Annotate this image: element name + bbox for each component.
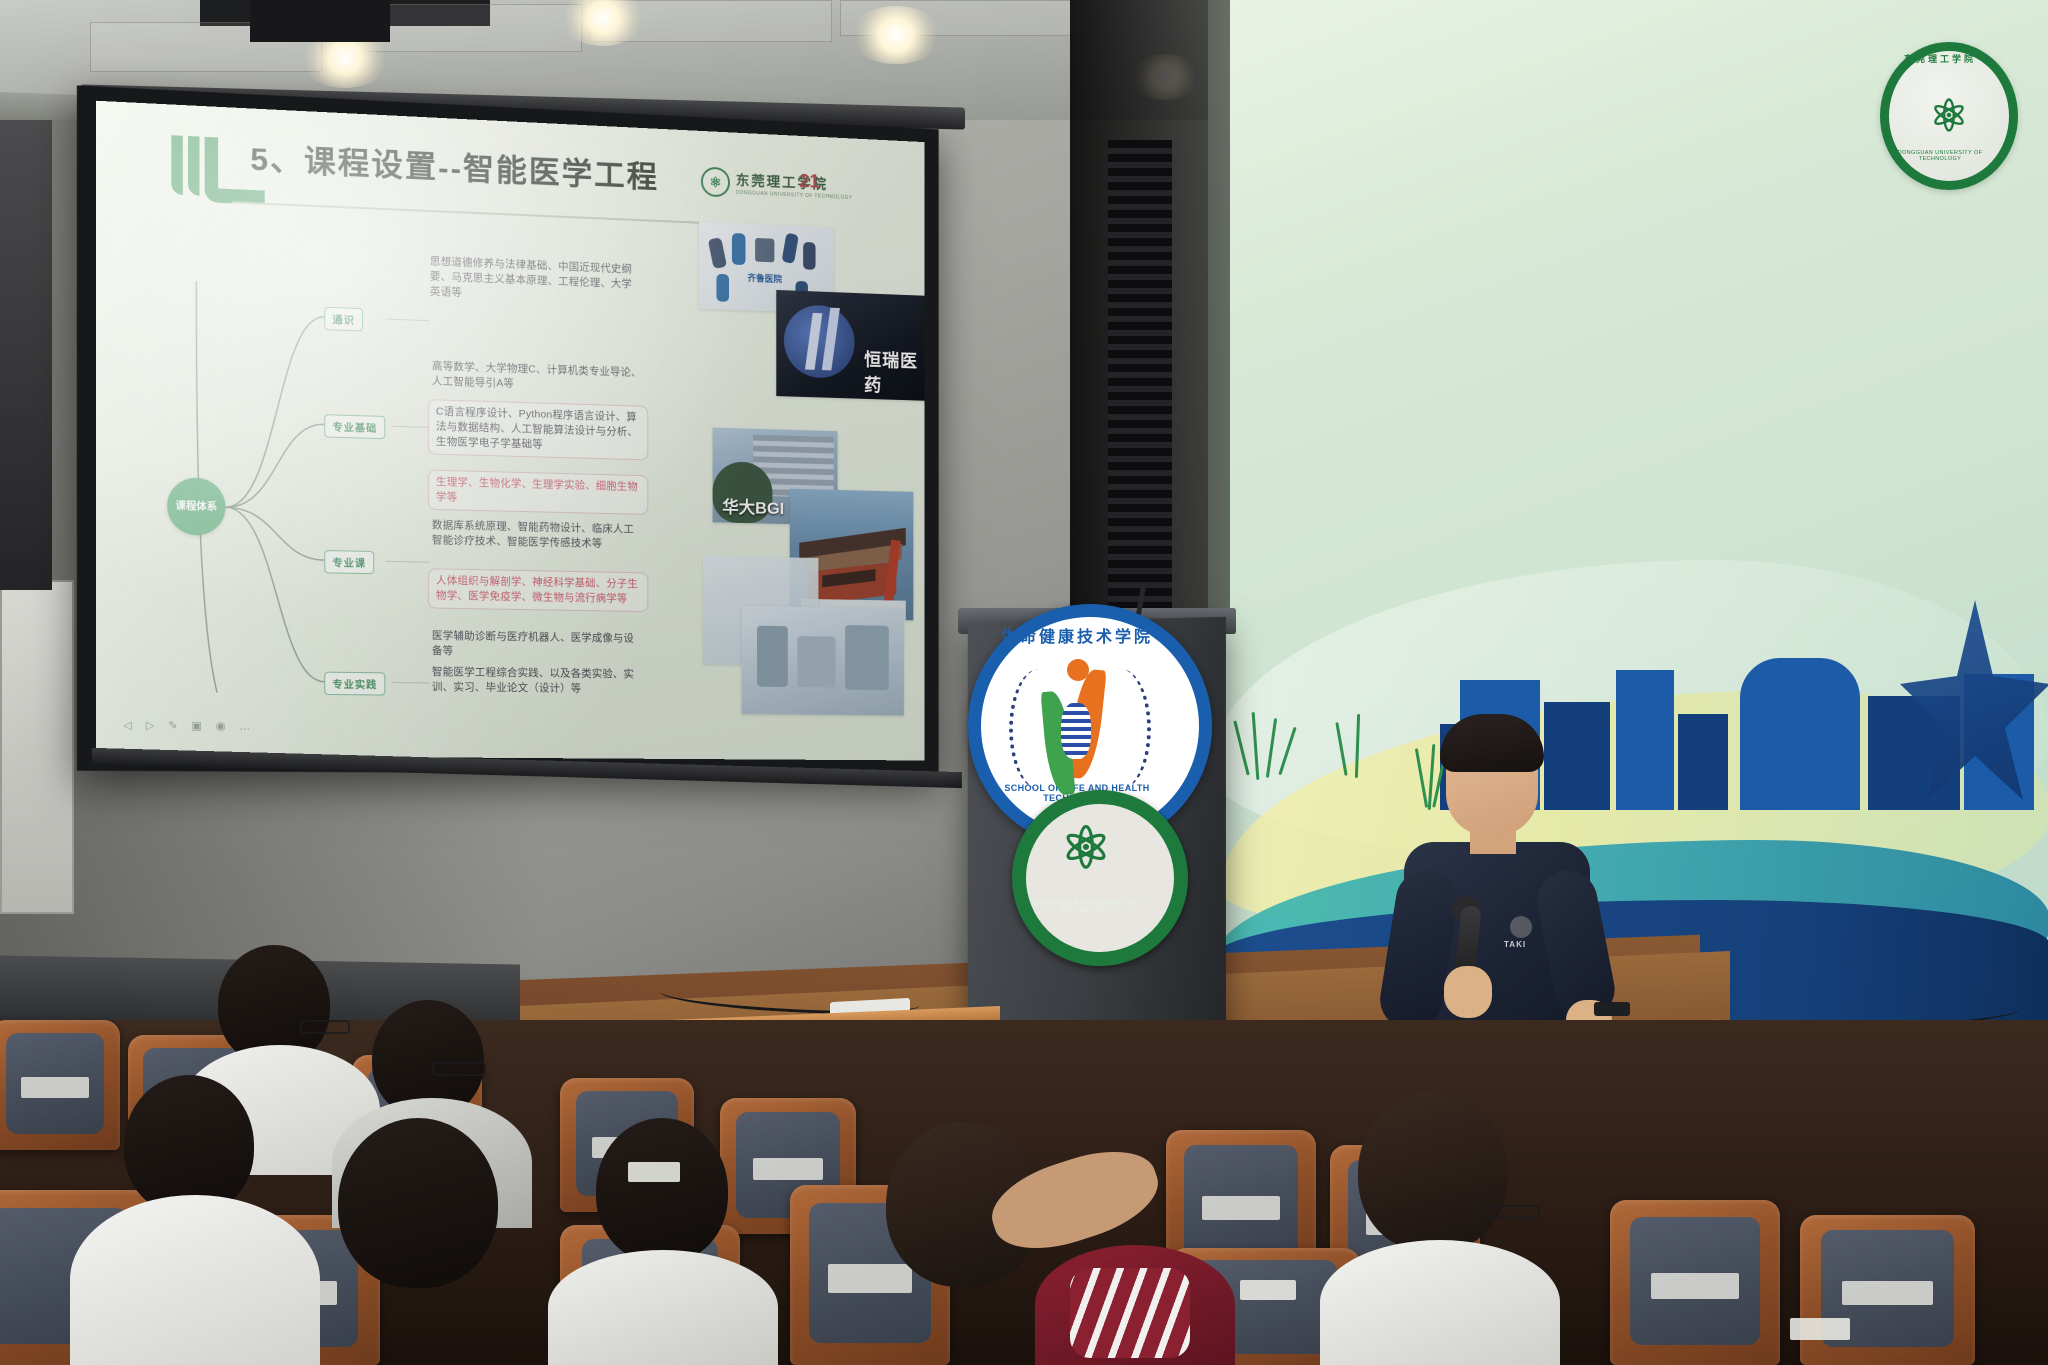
mindmap-branch-zhuanyeshijian: 专业实践 — [324, 672, 385, 696]
emblem-laurel-left — [1009, 669, 1069, 789]
mindmap-text-tongshi-1: 思想道德修养与法律基础、中国近现代史纲要、马克思主义基本原理、工程伦理、大学英语… — [430, 254, 641, 307]
podium-emblem-mark: ⚛ — [1026, 820, 1146, 878]
eyeglasses — [300, 1020, 350, 1034]
eyeglasses — [432, 1062, 486, 1076]
slide-page-number: 21 — [799, 171, 819, 194]
zoom-icon[interactable]: ◉ — [216, 719, 226, 732]
seat-tag — [1240, 1280, 1296, 1300]
pen-icon[interactable]: ✎ — [168, 719, 178, 732]
slide-logo-mark: ⚛ — [701, 166, 730, 197]
seat — [1800, 1215, 1975, 1365]
wall-speaker-box — [250, 0, 390, 42]
mindmap-text-zhuanye-2: 人体组织与解剖学、神经科学基础、分子生物学、医学免疫学、微生物与流行病学等 — [428, 568, 648, 612]
presenter-left-hand — [1444, 966, 1492, 1018]
prev-slide-icon[interactable]: ◁ — [123, 719, 132, 732]
wall-column-dark — [0, 120, 52, 590]
seat — [0, 1020, 120, 1150]
seat-tag — [1790, 1318, 1850, 1340]
course-mindmap: 课程体系 通识 专业基础 专业课 专业实践 思想道德修养与法律基础、中国近现代史… — [121, 217, 648, 735]
bgi-photo-caption: 华大BGI — [722, 493, 784, 519]
audience-member-sleeve-stripes — [1070, 1268, 1190, 1358]
wall-logo-english-text: DONGGUAN UNIVERSITY OF TECHNOLOGY — [1882, 150, 1998, 162]
mindmap-text-jichu-3: 生理学、生物化学、生理学实验、细胞生物学等 — [428, 470, 648, 515]
wall-logo-chinese-text: 东莞理工学院 — [1884, 52, 1996, 65]
seat — [1610, 1200, 1780, 1365]
emblem-laurel-right — [1091, 669, 1151, 789]
wall-vent-grille — [1108, 140, 1172, 610]
audience-member-head — [1358, 1092, 1508, 1252]
audience-member-head — [338, 1118, 498, 1288]
ceiling-downlight — [850, 6, 942, 64]
audience-member-head — [596, 1118, 728, 1263]
hengrui-pharma-building-photo: 恒瑞医药 — [776, 290, 924, 401]
audience-member-shoulders — [548, 1250, 778, 1365]
mindmap-branch-zhuanyejichu: 专业基础 — [324, 414, 385, 439]
shirt-logo-text: TAKI — [1504, 940, 1526, 949]
eyeglasses — [1478, 1205, 1540, 1219]
audience-member-shoulders — [70, 1195, 320, 1365]
mindmap-root-node: 课程体系 — [167, 477, 225, 536]
laboratory-photo-2 — [742, 606, 904, 716]
mindmap-branch-tongshi: 通识 — [324, 307, 363, 332]
podium-emblem-english-text: DONGGUAN UNIVERSITY OF TECHNOLOGY — [1026, 900, 1146, 914]
audience-member-head — [124, 1075, 254, 1215]
audience-member-shoulders — [1320, 1240, 1560, 1365]
powerpoint-toolbar[interactable]: ◁ ▷ ✎ ▣ ◉ … — [123, 719, 250, 733]
cartoon-photo-caption: 齐鲁医院 — [747, 271, 782, 285]
wall-access-panel — [0, 580, 74, 914]
mindmap-text-zhuanye-1: 数据库系统原理、智能药物设计、临床人工智能诊疗技术、智能医学传感技术等 — [432, 518, 643, 553]
next-slide-icon[interactable]: ▷ — [146, 719, 155, 732]
more-options-icon[interactable]: … — [239, 720, 250, 732]
presenter-hair — [1440, 714, 1544, 772]
mindmap-text-jichu-2: C语言程序设计、Python程序语言设计、算法与数据结构、人工智能算法设计与分析… — [428, 399, 648, 460]
mindmap-text-shijian-1: 智能医学工程综合实践、以及各类实验、实训、实习、毕业论文（设计）等 — [432, 665, 643, 697]
presentation-clicker — [1594, 1002, 1630, 1016]
dongguan-university-of-technology-emblem: ⚛ DONGGUAN UNIVERSITY OF TECHNOLOGY — [1012, 790, 1188, 966]
slide-grid-icon[interactable]: ▣ — [191, 719, 202, 732]
projector-screen: 5、课程设置--智能医学工程 ⚛ 东莞理工学院 DONGGUAN UNIVERS… — [96, 101, 925, 761]
shirt-logo-icon — [1510, 916, 1532, 938]
presentation-slide: 5、课程设置--智能医学工程 ⚛ 东莞理工学院 DONGGUAN UNIVERS… — [96, 101, 925, 761]
audience-member-shoulders — [296, 1272, 556, 1365]
hengrui-photo-caption: 恒瑞医药 — [864, 346, 924, 399]
lecture-hall-photo: ⚛ 东莞理工学院 DONGGUAN UNIVERSITY OF TECHNOLO… — [0, 0, 2048, 1365]
mindmap-text-zhuanye-3: 医学辅助诊断与医疗机器人、医学成像与设备等 — [432, 629, 643, 662]
seat-tag — [628, 1162, 680, 1182]
emblem-chinese-text: 生命健康技术学院 — [981, 623, 1173, 647]
mindmap-branch-zhuanyeke: 专业课 — [324, 550, 374, 574]
wall-logo-mark: ⚛ — [1929, 91, 1968, 142]
